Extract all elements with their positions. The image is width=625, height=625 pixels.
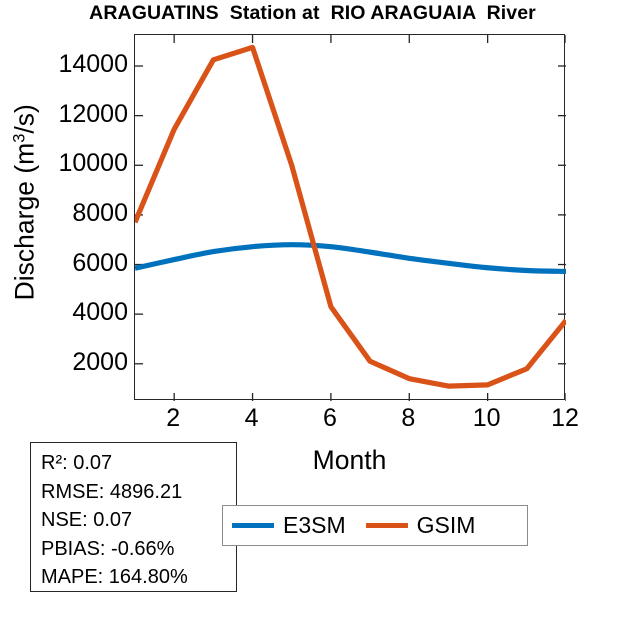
stat-r2: R²: 0.07 bbox=[41, 449, 236, 478]
y-axis-label: Discharge (m3/s) bbox=[5, 37, 40, 367]
plot-area bbox=[134, 34, 565, 400]
x-tick-label-2: 2 bbox=[138, 406, 208, 431]
stat-nse: NSE: 0.07 bbox=[41, 506, 236, 535]
x-tick-label-4: 4 bbox=[217, 406, 287, 431]
chart-legend[interactable]: E3SM GSIM bbox=[222, 505, 528, 546]
legend-swatch-e3sm bbox=[232, 523, 274, 528]
y-axis-label-main: Discharge (m bbox=[9, 143, 39, 301]
chart-figure: ARAGUATINS Station at RIO ARAGUAIA River… bbox=[0, 0, 625, 625]
legend-item-gsim[interactable]: GSIM bbox=[366, 514, 476, 537]
y-axis-label-exponent: 3 bbox=[11, 134, 29, 143]
legend-swatch-gsim bbox=[366, 523, 408, 528]
stat-rmse: RMSE: 4896.21 bbox=[41, 478, 236, 507]
data-series-group bbox=[135, 47, 566, 386]
series-line-e3sm bbox=[135, 245, 566, 272]
legend-item-e3sm[interactable]: E3SM bbox=[232, 514, 346, 537]
x-tick-label-10: 10 bbox=[452, 406, 522, 431]
axis-ticks bbox=[135, 35, 566, 401]
stat-mape: MAPE: 164.80% bbox=[41, 563, 236, 592]
stat-pbias: PBIAS: -0.66% bbox=[41, 535, 236, 564]
series-line-gsim bbox=[135, 47, 566, 386]
y-axis-label-tail: /s) bbox=[9, 104, 39, 133]
x-tick-label-12: 12 bbox=[530, 406, 600, 431]
statistics-box: R²: 0.07 RMSE: 4896.21 NSE: 0.07 PBIAS: … bbox=[30, 442, 237, 592]
x-tick-label-6: 6 bbox=[295, 406, 365, 431]
plot-svg bbox=[135, 35, 566, 401]
legend-label-gsim: GSIM bbox=[417, 514, 476, 537]
x-tick-label-8: 8 bbox=[373, 406, 443, 431]
legend-label-e3sm: E3SM bbox=[283, 514, 346, 537]
